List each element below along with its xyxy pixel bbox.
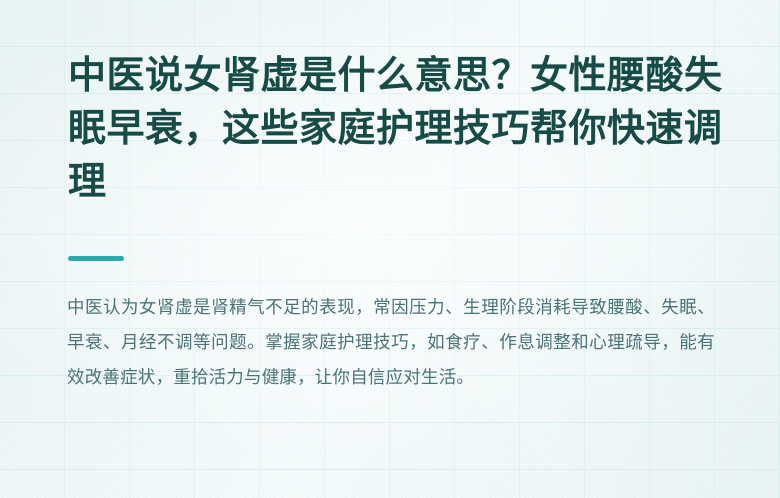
accent-divider bbox=[68, 256, 124, 261]
article-summary: 中医认为女肾虚是肾精气不足的表现，常因压力、生理阶段消耗导致腰酸、失眠、早衰、月… bbox=[67, 290, 715, 395]
article-card: 中医说女肾虚是什么意思？女性腰酸失眠早衰，这些家庭护理技巧帮你快速调理 中医认为… bbox=[0, 0, 780, 498]
article-headline: 中医说女肾虚是什么意思？女性腰酸失眠早衰，这些家庭护理技巧帮你快速调理 bbox=[68, 50, 728, 209]
card-content: 中医说女肾虚是什么意思？女性腰酸失眠早衰，这些家庭护理技巧帮你快速调理 中医认为… bbox=[0, 0, 780, 498]
